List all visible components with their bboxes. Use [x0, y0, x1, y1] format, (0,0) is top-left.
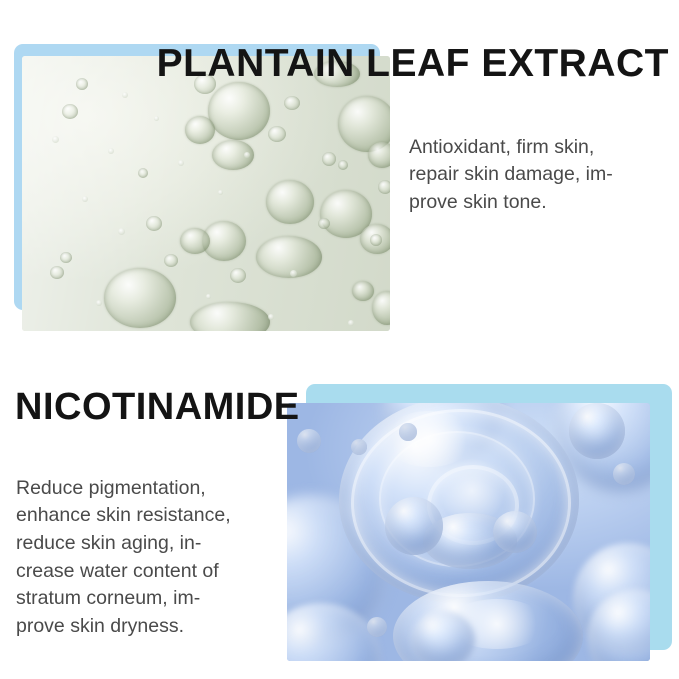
oil-bubble	[60, 252, 72, 263]
oil-speck	[244, 152, 250, 158]
oil-speck	[218, 190, 223, 195]
water-highlight	[383, 411, 475, 467]
oil-speck	[96, 300, 102, 306]
oil-bubble	[368, 142, 390, 168]
oil-bubble	[322, 152, 336, 166]
plantain-heading: PLANTAIN LEAF EXTRACT	[157, 44, 669, 83]
oil-speck	[290, 270, 297, 277]
oil-bubble	[268, 126, 286, 142]
water-droplet	[613, 463, 635, 485]
oil-speck	[108, 148, 114, 154]
oil-bubble	[208, 82, 270, 140]
oil-speck	[82, 196, 88, 202]
water-bubble	[411, 611, 475, 661]
water-droplet	[367, 617, 387, 637]
water-droplet	[399, 423, 417, 441]
oil-bubble	[378, 180, 390, 194]
water-inner-bubble	[385, 497, 443, 555]
oil-bubble	[50, 266, 64, 279]
oil-bubble	[352, 281, 374, 301]
oil-speck	[178, 160, 184, 166]
oil-bubble	[318, 218, 330, 229]
nicotinamide-heading: NICOTINAMIDE	[15, 388, 300, 426]
oil-speck	[122, 92, 128, 98]
oil-bubble	[230, 268, 246, 283]
oil-speck	[154, 116, 159, 121]
oil-speck	[118, 228, 125, 235]
water-droplet	[351, 439, 367, 455]
nicotinamide-photo	[287, 403, 650, 661]
oil-bubble	[256, 236, 322, 278]
oil-speck	[206, 294, 211, 299]
water-bubble	[569, 403, 625, 459]
oil-bubble	[180, 228, 210, 254]
oil-bubble	[62, 104, 78, 119]
oil-bubble	[185, 116, 215, 144]
oil-speck	[268, 314, 274, 320]
oil-bubble	[104, 268, 176, 328]
water-droplet	[297, 429, 321, 453]
nicotinamide-description: Reduce pigmentation, enhance skin resist…	[16, 475, 278, 641]
oil-bubble	[138, 168, 148, 178]
plantain-description: Antioxidant, firm skin, repair skin dama…	[409, 134, 671, 217]
oil-speck	[52, 136, 59, 143]
water-inner-bubble	[493, 511, 537, 553]
oil-bubble	[146, 216, 162, 231]
oil-bubble	[370, 234, 382, 246]
oil-speck	[348, 320, 354, 326]
oil-bubble	[338, 160, 348, 170]
oil-bubble	[284, 96, 300, 110]
oil-bubble	[76, 78, 88, 90]
plantain-photo	[22, 56, 390, 331]
oil-bubble	[164, 254, 178, 267]
oil-bubble	[266, 180, 314, 224]
ingredient-info-page: PLANTAIN LEAF EXTRACT Antioxidant, firm …	[0, 0, 679, 679]
